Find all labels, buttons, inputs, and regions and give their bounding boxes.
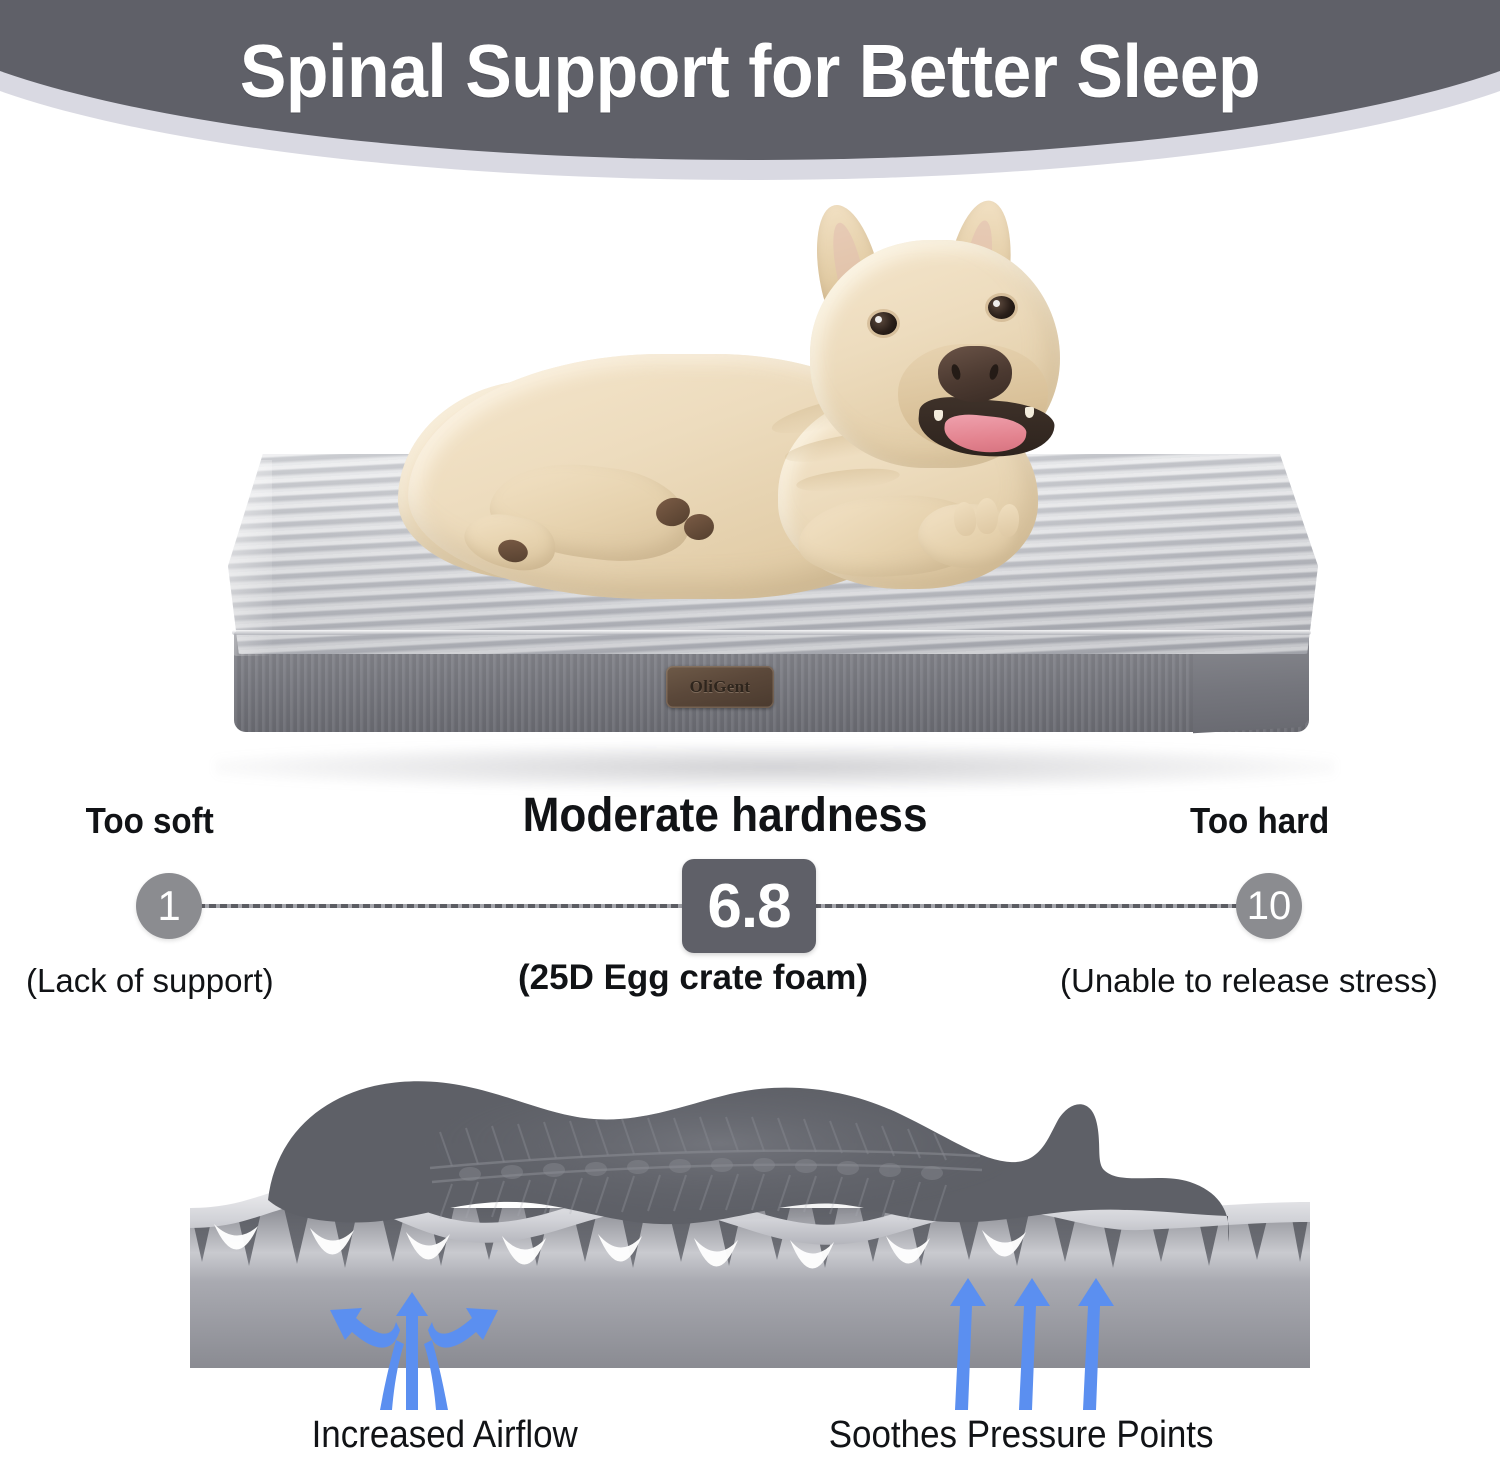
scale-node-max: 10 xyxy=(1236,873,1302,939)
scale-caption-middle: (25D Egg crate foam) xyxy=(518,958,868,998)
bed-seam xyxy=(232,630,1311,635)
scale-label-too-soft: Too soft xyxy=(86,800,214,842)
hardness-scale: Too soft Moderate hardness Too hard 1 6.… xyxy=(0,790,1500,1002)
scale-caption-right: (Unable to release stress) xyxy=(1060,962,1438,1000)
dog-nose xyxy=(938,346,1012,402)
airflow-label: Increased Airflow xyxy=(312,1414,578,1457)
scale-label-moderate: Moderate hardness xyxy=(523,788,928,843)
scale-node-min: 1 xyxy=(136,873,202,939)
cross-section-illustration xyxy=(0,1010,1500,1410)
dog-eye-left xyxy=(870,312,897,335)
infographic-page: Spinal Support for Better Sleep OliGent xyxy=(0,0,1500,1472)
page-title: Spinal Support for Better Sleep xyxy=(53,28,1448,114)
brand-patch-label: OliGent xyxy=(690,677,751,697)
scale-caption-left: (Lack of support) xyxy=(26,962,274,1000)
scale-value-badge: 6.8 xyxy=(682,859,816,953)
pressure-points-label: Soothes Pressure Points xyxy=(829,1414,1214,1457)
scale-label-too-hard: Too hard xyxy=(1190,800,1329,842)
foam-block xyxy=(190,1208,1310,1368)
product-photo: OliGent xyxy=(0,196,1500,796)
dog-tooth xyxy=(1025,407,1034,418)
dog-eye-right xyxy=(988,296,1015,319)
header-banner: Spinal Support for Better Sleep xyxy=(0,0,1500,200)
dog-toe xyxy=(976,498,998,534)
dog-tooth xyxy=(934,410,943,421)
dog-eye-glint-right xyxy=(993,300,1000,307)
dog-eye-glint-left xyxy=(875,316,882,323)
foam-cross-section: Increased Airflow Soothes Pressure Point… xyxy=(0,1010,1500,1472)
brand-patch: OliGent xyxy=(666,666,774,708)
dog-photo xyxy=(398,204,1158,604)
